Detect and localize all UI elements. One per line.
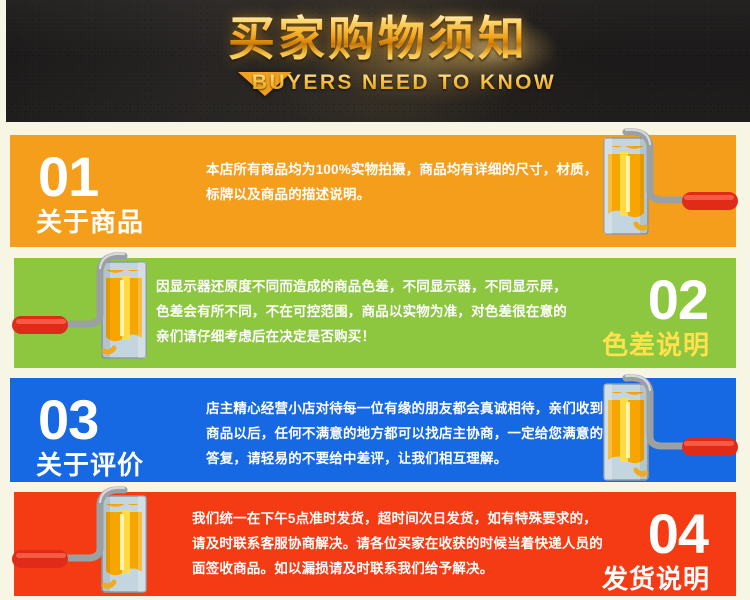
page-subtitle: BUYERS NEED TO KNOW [6,71,750,95]
section-04-label: 发货说明 [602,566,710,592]
section-04-number: 04 [648,506,708,562]
paint-roller-icon [596,126,746,244]
paint-roller-icon [596,372,746,490]
section-02-number: 02 [648,272,708,328]
section-01-label: 关于商品 [36,209,144,235]
section-01-number: 01 [38,149,98,205]
paint-roller-icon [4,250,154,368]
paint-roller-icon [4,484,154,600]
section-01-body: 本店所有商品均为100%实物拍摄，商品均有详细的尺寸，材质，标牌以及商品的描述说… [206,157,606,207]
section-03-number: 03 [38,392,98,448]
section-02-label: 色差说明 [602,332,710,358]
section-02-body: 因显示器还原度不同而造成的商品色差，不同显示器，不同显示屏，色差会有所不同，不在… [156,274,574,349]
page-title: 买家购物须知 [6,14,750,63]
section-03-label: 关于评价 [36,452,144,478]
section-04-body: 我们统一在下午5点准时发货，超时间次日发货，如有特殊要求的，请及时联系客服协商解… [192,506,610,581]
banner-header: 买家购物须知 BUYERS NEED TO KNOW [6,0,750,122]
promo-banner: 买家购物须知 BUYERS NEED TO KNOW 01 关于商品 本店所有商… [0,0,750,600]
section-03-body: 店主精心经营小店对待每一位有缘的朋友都会真诚相待，亲们收到商品以后，任何不满意的… [206,396,616,471]
